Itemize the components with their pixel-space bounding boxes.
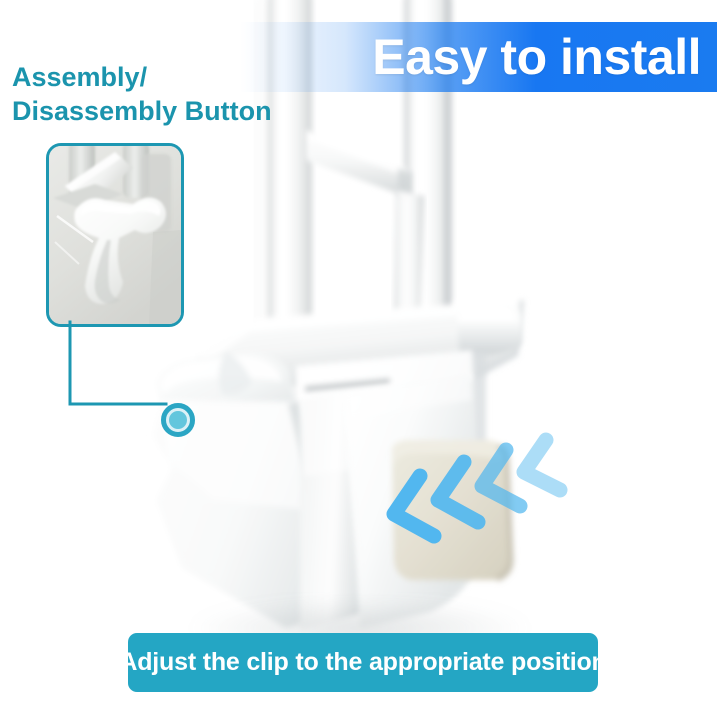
callout-label-line1: Assembly/ bbox=[12, 60, 412, 94]
magnifier-inset-image bbox=[49, 146, 181, 324]
callout-target-marker bbox=[160, 402, 196, 438]
caption-text: Adjust the clip to the appropriate posit… bbox=[119, 648, 606, 677]
magnifier-inset-frame bbox=[46, 143, 184, 327]
callout-label: Assembly/ Disassembly Button bbox=[12, 60, 412, 129]
headline-text: Easy to install bbox=[372, 32, 701, 82]
product-infographic: Easy to install Assembly/ Disassembly Bu… bbox=[0, 0, 717, 717]
caption-bar: Adjust the clip to the appropriate posit… bbox=[128, 633, 598, 692]
callout-label-line2: Disassembly Button bbox=[12, 94, 412, 128]
